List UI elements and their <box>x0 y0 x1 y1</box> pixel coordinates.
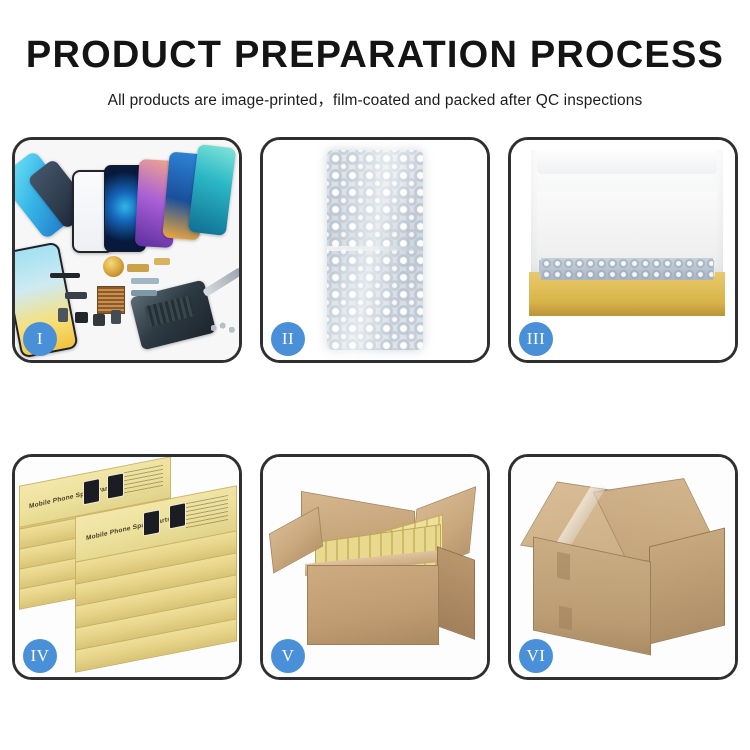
process-step-2[interactable]: II <box>260 137 490 363</box>
screws-icon <box>211 322 237 334</box>
process-step-grid: I II <box>12 137 738 680</box>
screen-thumbnail-icon <box>143 509 160 536</box>
step-badge: III <box>519 322 553 356</box>
product-preparation-page: PRODUCT PREPARATION PROCESS All products… <box>0 0 750 750</box>
volume-button-flex-icon <box>154 258 170 265</box>
tape-tab-icon <box>559 606 572 631</box>
screen-thumbnail-icon <box>107 472 124 499</box>
sim-tray-icon <box>58 308 68 322</box>
camera-module-icon <box>75 312 88 323</box>
vibration-motor-icon <box>103 256 124 277</box>
step-badge: I <box>23 322 57 356</box>
page-header: PRODUCT PREPARATION PROCESS All products… <box>0 0 750 110</box>
screen-thumbnail-icon <box>169 502 186 529</box>
gold-flex-cable-icon <box>127 264 149 272</box>
tweezers-icon <box>202 267 239 297</box>
bubble-sheen-icon <box>315 143 435 357</box>
process-step-6[interactable]: VI <box>508 454 738 680</box>
battery-connector-icon <box>111 310 121 324</box>
carton-side-panel-icon <box>649 528 725 645</box>
step-badge: VI <box>519 639 553 673</box>
speaker-module-icon <box>93 314 105 326</box>
ribbon-cable-icon <box>131 278 159 284</box>
tape-tab-icon <box>557 552 570 581</box>
step-badge: IV <box>23 639 57 673</box>
spec-lines-icon <box>186 495 228 529</box>
tray-lip-icon <box>529 304 725 316</box>
process-step-1[interactable]: I <box>12 137 242 363</box>
earpiece-mesh-icon <box>50 273 80 278</box>
bubble-wrapped-contents-icon <box>541 258 713 280</box>
carton-front-panel-icon <box>307 565 439 645</box>
screen-thumbnail-icon <box>83 478 100 505</box>
carton-side-panel-icon <box>437 546 475 640</box>
process-step-4[interactable]: Mobile Phone Spare Parts Mobile Phone Sp… <box>12 454 242 680</box>
ribbon-cable-icon <box>131 290 157 296</box>
spec-lines-icon <box>124 465 163 497</box>
process-step-5[interactable]: V <box>260 454 490 680</box>
flex-connector-icon <box>65 292 87 299</box>
kraft-tray-icon <box>529 272 725 316</box>
page-title: PRODUCT PREPARATION PROCESS <box>0 0 750 76</box>
step-badge: II <box>271 322 305 356</box>
foam-insert-icon <box>537 192 717 266</box>
step-badge: V <box>271 639 305 673</box>
page-subtitle: All products are image-printed，film-coat… <box>0 76 750 110</box>
process-step-3[interactable]: III <box>508 137 738 363</box>
box-label-text: Mobile Phone Spare Parts <box>29 484 114 510</box>
